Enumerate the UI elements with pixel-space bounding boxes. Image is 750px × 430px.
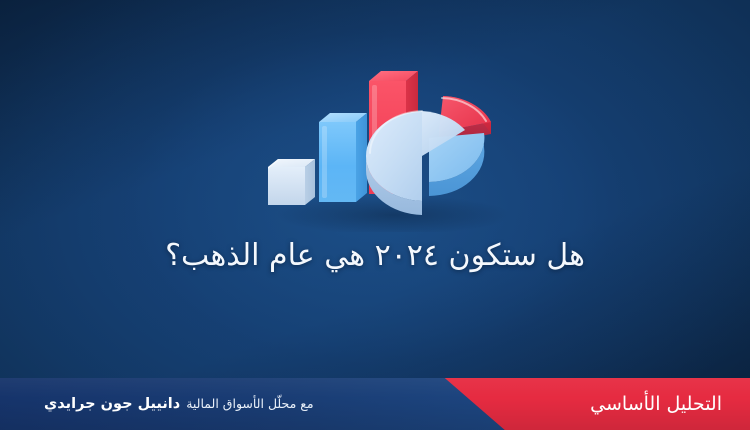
footer-category-label: التحليل الأساسي (590, 378, 722, 430)
banner-canvas: هل ستكون ٢٠٢٤ هي عام الذهب؟ التحليل الأس… (0, 0, 750, 430)
chart-illustration (243, 52, 523, 232)
page-title: هل ستكون ٢٠٢٤ هي عام الذهب؟ (0, 233, 750, 279)
footer-bar: التحليل الأساسي مع محلّل الأسواق المالية… (0, 378, 750, 430)
bar-medium-blue (319, 113, 367, 202)
bar-small-white (268, 159, 315, 205)
